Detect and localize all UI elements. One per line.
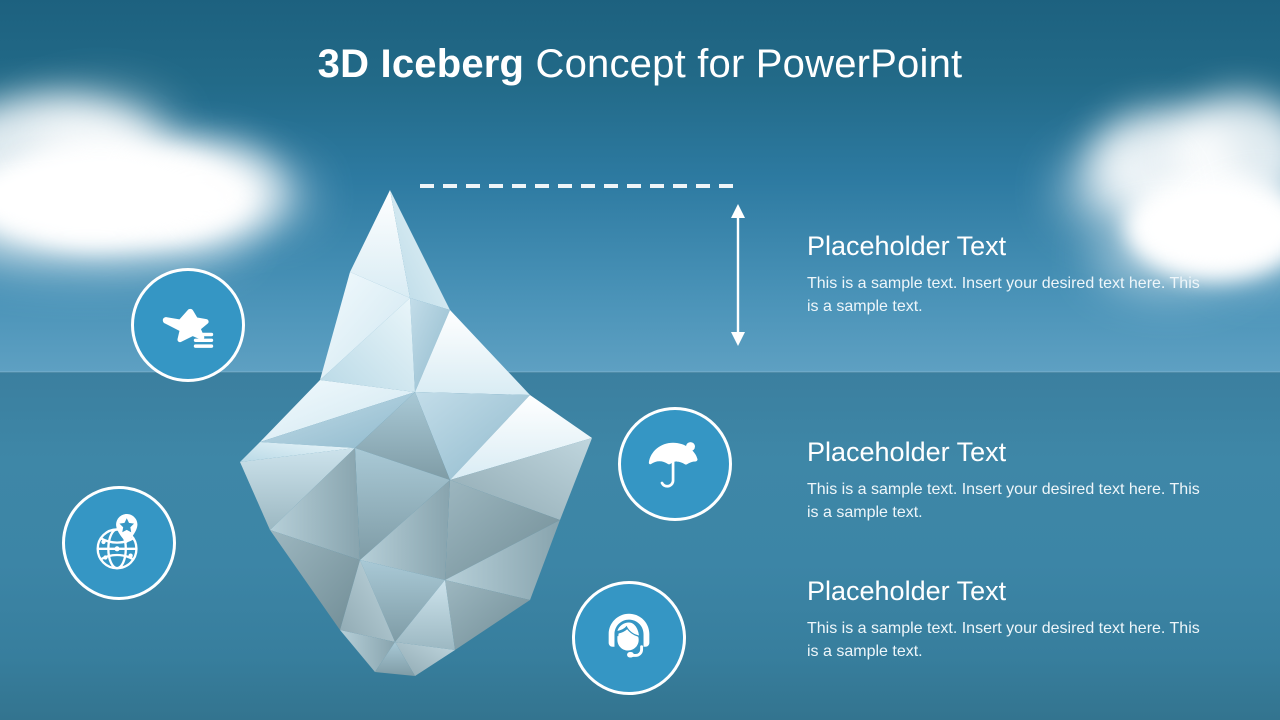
text-block-body: This is a sample text. Insert your desir… — [807, 617, 1207, 663]
text-block: Placeholder Text This is a sample text. … — [807, 577, 1207, 663]
text-block: Placeholder Text This is a sample text. … — [807, 232, 1207, 318]
support-agent-glyph — [598, 607, 660, 669]
cloud-puff — [1060, 150, 1180, 230]
cloud-puff — [30, 96, 170, 166]
page-title: 3D Iceberg Concept for PowerPoint — [0, 42, 1280, 87]
page-title-bold: 3D Iceberg — [318, 42, 525, 86]
page-title-rest: Concept for PowerPoint — [524, 42, 962, 86]
airplane-glyph — [157, 294, 219, 356]
text-block: Placeholder Text This is a sample text. … — [807, 438, 1207, 524]
support-agent-icon[interactable] — [572, 581, 686, 695]
globe-location-glyph — [88, 512, 150, 574]
text-block-body: This is a sample text. Insert your desir… — [807, 478, 1207, 524]
iceberg-graphic — [200, 180, 620, 680]
airplane-icon[interactable] — [131, 268, 245, 382]
text-block-heading: Placeholder Text — [807, 438, 1207, 468]
umbrella-icon[interactable] — [618, 407, 732, 521]
umbrella-glyph — [644, 433, 706, 495]
text-block-heading: Placeholder Text — [807, 577, 1207, 607]
text-block-body: This is a sample text. Insert your desir… — [807, 272, 1207, 318]
slide-canvas: 3D Iceberg Concept for PowerPoint — [0, 0, 1280, 720]
double-headed-height-arrow — [724, 202, 752, 348]
text-block-heading: Placeholder Text — [807, 232, 1207, 262]
globe-location-icon[interactable] — [62, 486, 176, 600]
